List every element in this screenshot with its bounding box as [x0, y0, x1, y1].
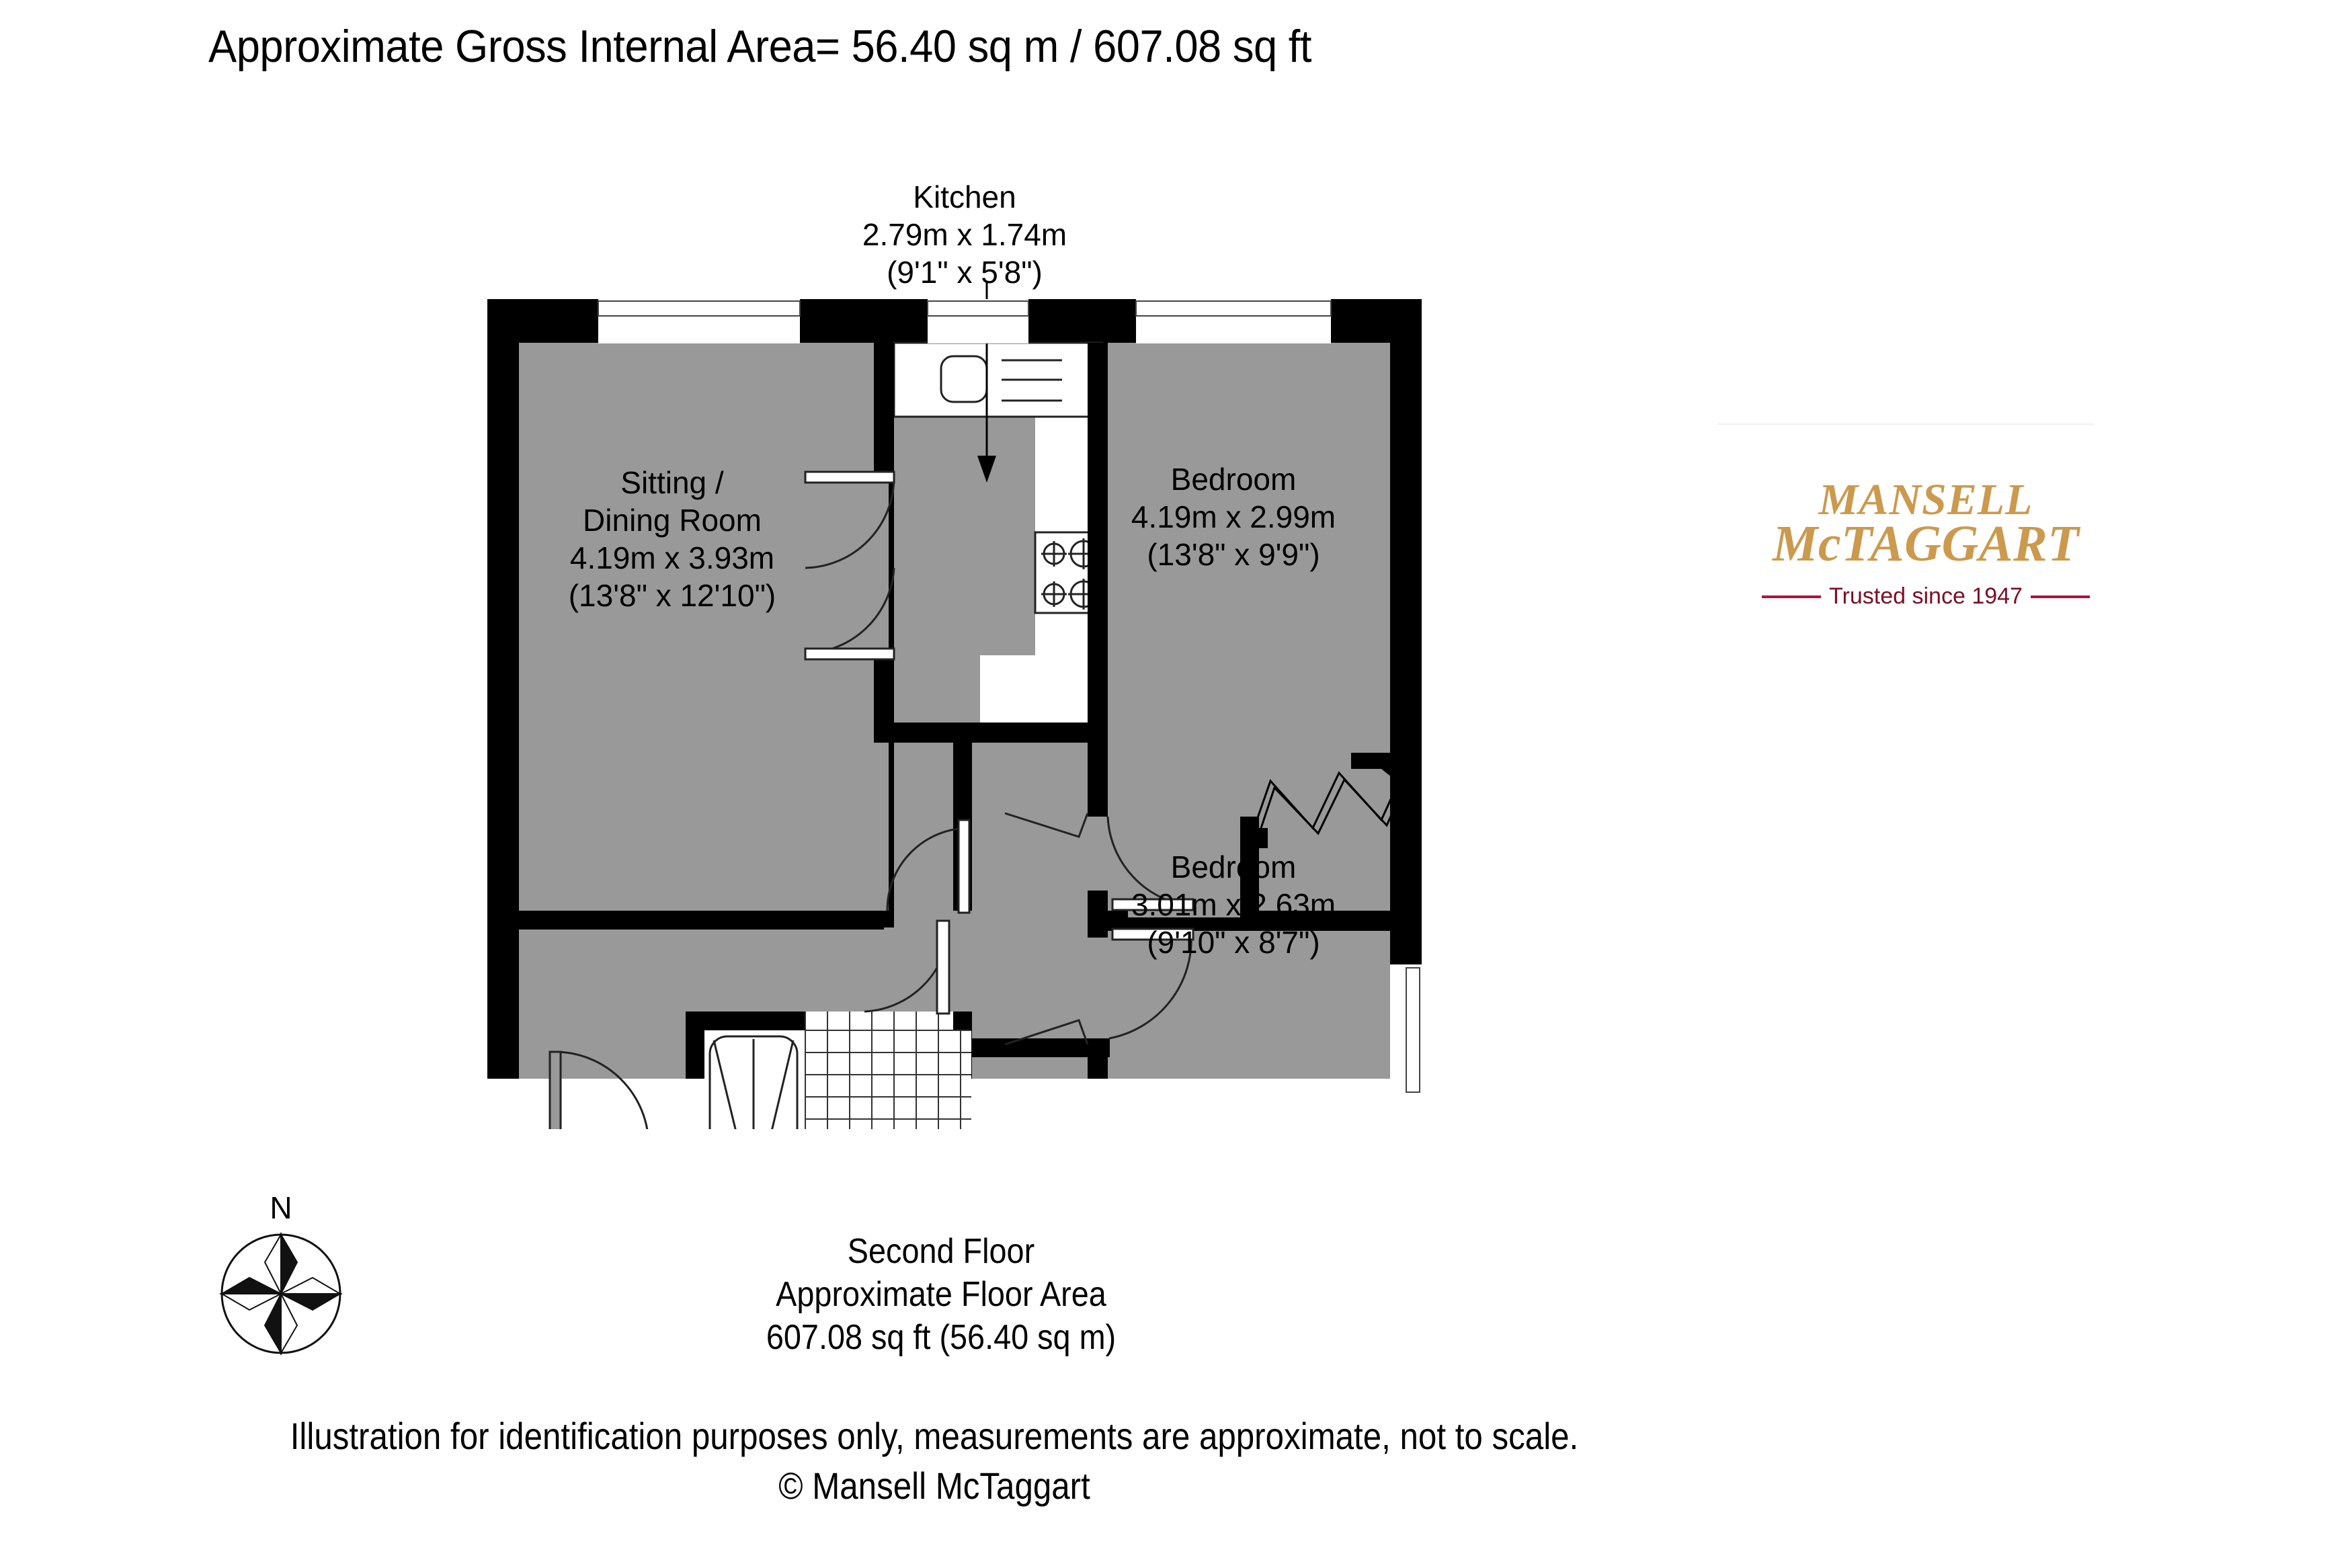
floor-info: Second Floor Approximate Floor Area 607.…: [484, 1230, 1398, 1359]
bedroom-1-label: Bedroom 4.19m x 2.99m (13'8" x 9'9"): [1092, 460, 1375, 573]
bedroom-1-name: Bedroom: [1092, 460, 1375, 498]
kitchen-imperial: (9'1" x 5'8"): [830, 253, 1099, 291]
windows-top: [598, 299, 1331, 343]
kitchen-metric: 2.79m x 1.74m: [830, 216, 1099, 253]
disclaimer-block: Illustration for identification purposes…: [0, 1411, 1869, 1511]
kitchen-sink-icon: [941, 356, 987, 402]
bedroom-1-metric: 4.19m x 2.99m: [1092, 498, 1375, 536]
floor-plan-drawing: [471, 282, 1506, 1129]
compass: N: [214, 1190, 348, 1358]
sitting-dining-room-name-2: Dining Room: [531, 501, 813, 539]
brand-logo: MANSELL McTAGGART Trusted since 1947: [1717, 403, 2134, 612]
sitting-dining-room-metric: 4.19m x 3.93m: [531, 539, 813, 577]
copyright-text: © Mansell McTaggart: [112, 1461, 1756, 1511]
page-title: Approximate Gross Internal Area= 56.40 s…: [208, 20, 1311, 73]
compass-rose-icon: [214, 1230, 348, 1358]
window-right: [1390, 964, 1422, 1096]
logo-rule-left: [1762, 595, 1821, 598]
sitting-dining-room-imperial: (13'8" x 12'10"): [531, 577, 813, 614]
logo-hairline: [1717, 423, 2094, 425]
logo-rule-right: [2031, 595, 2090, 598]
sitting-dining-room-name-1: Sitting /: [531, 464, 813, 501]
kitchen-label: Kitchen 2.79m x 1.74m (9'1" x 5'8"): [830, 178, 1099, 291]
bedroom-2-imperial: (9'10" x 8'7"): [1092, 923, 1375, 961]
bathroom-tiled-floor: [805, 1012, 971, 1129]
compass-north-label: N: [214, 1190, 348, 1226]
logo-tagline-row: Trusted since 1947: [1717, 583, 2134, 610]
logo-tagline: Trusted since 1947: [1829, 583, 2023, 610]
bedroom-2-metric: 3.01m x 2.63m: [1092, 886, 1375, 923]
floor-area-label: Approximate Floor Area: [530, 1273, 1352, 1316]
disclaimer-text: Illustration for identification purposes…: [112, 1411, 1756, 1461]
floor-name: Second Floor: [530, 1230, 1352, 1273]
floorplan-page: Approximate Gross Internal Area= 56.40 s…: [0, 0, 2352, 1568]
bedroom-1-imperial: (13'8" x 9'9"): [1092, 536, 1375, 573]
bedroom-2-name: Bedroom: [1092, 848, 1375, 886]
logo-line-2: McTAGGART: [1717, 515, 2134, 573]
kitchen-name: Kitchen: [830, 178, 1099, 216]
floor-area-value: 607.08 sq ft (56.40 sq m): [530, 1316, 1352, 1359]
sitting-dining-room-label: Sitting / Dining Room 4.19m x 3.93m (13'…: [531, 464, 813, 614]
sitting-dining-room-floor: [519, 343, 889, 911]
bedroom-2-label: Bedroom 3.01m x 2.63m (9'10" x 8'7"): [1092, 848, 1375, 961]
